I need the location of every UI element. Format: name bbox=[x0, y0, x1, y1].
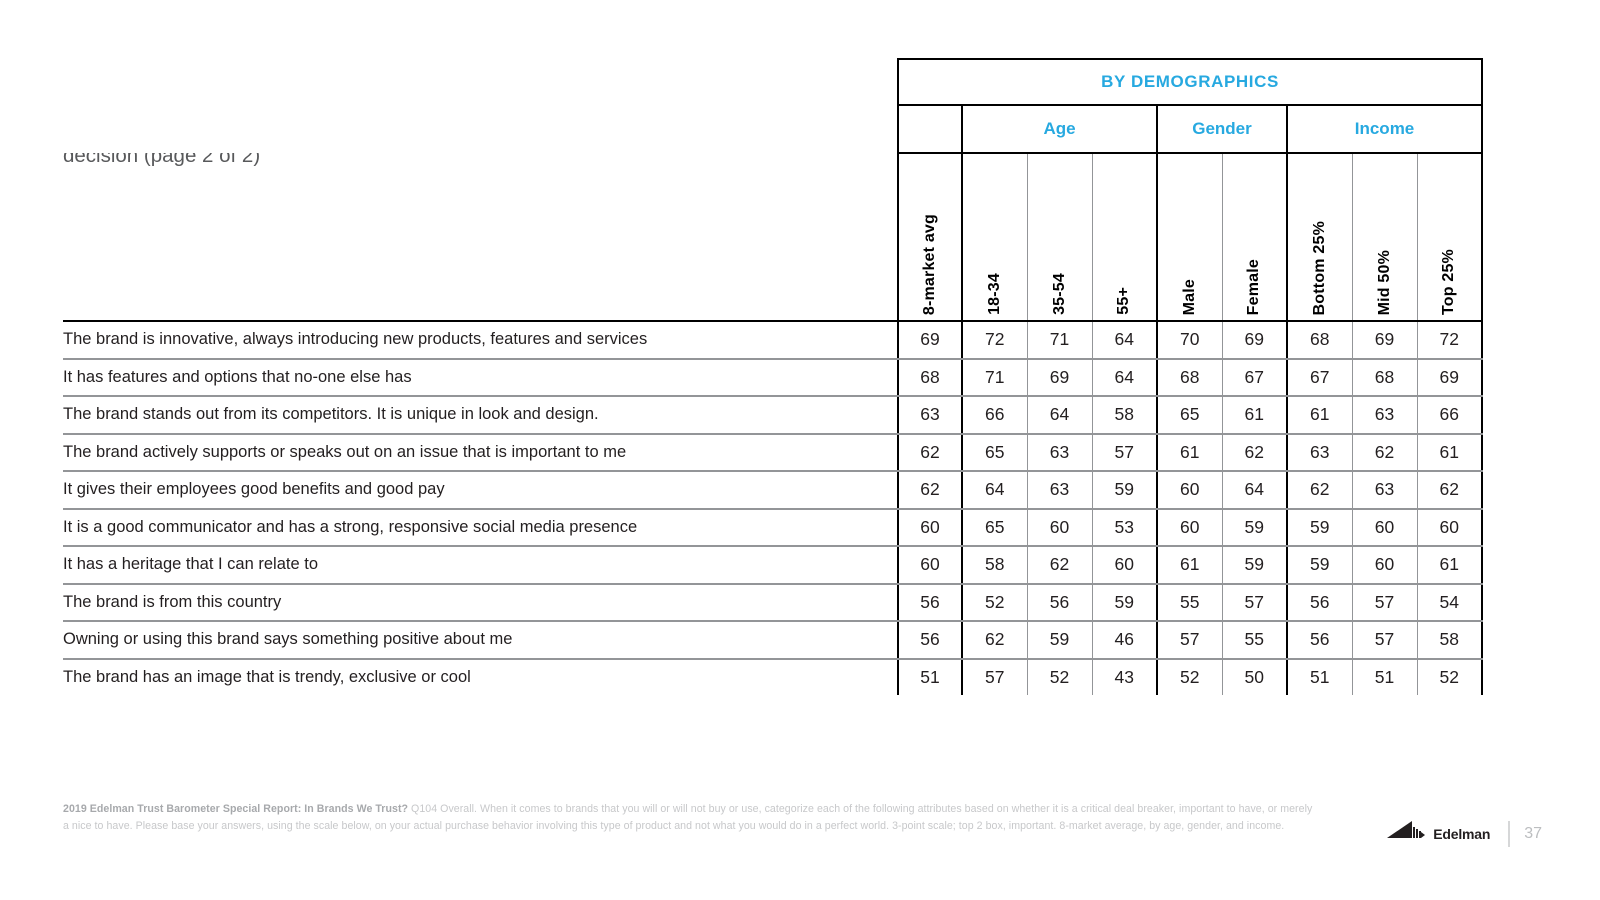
table-cell: 59 bbox=[1027, 621, 1092, 659]
table-cell: 52 bbox=[962, 584, 1027, 622]
table-cell: 62 bbox=[1222, 434, 1287, 472]
edelman-wordmark: Edelman bbox=[1433, 826, 1490, 842]
column-header-text: 55+ bbox=[1115, 281, 1133, 315]
table-cell: 53 bbox=[1092, 509, 1157, 547]
column-header-text: Female bbox=[1245, 253, 1263, 315]
column-header-8-market-avg: 8-market avg bbox=[898, 153, 962, 321]
table-cell: 63 bbox=[1027, 471, 1092, 509]
table-cell: 60 bbox=[1352, 509, 1417, 547]
footnote-source: 2019 Edelman Trust Barometer Special Rep… bbox=[63, 803, 408, 815]
column-label-spacer bbox=[63, 153, 898, 321]
table-cell: 64 bbox=[1222, 471, 1287, 509]
banner-spacer bbox=[63, 59, 898, 105]
table-cell: 61 bbox=[1287, 396, 1352, 434]
table-cell: 60 bbox=[1352, 546, 1417, 584]
column-header-text: 8-market avg bbox=[921, 208, 939, 315]
column-header-bottom-25: Bottom 25% bbox=[1287, 153, 1352, 321]
brand-footer: Edelman 37 bbox=[1385, 818, 1542, 849]
column-header-55-plus: 55+ bbox=[1092, 153, 1157, 321]
table-cell: 69 bbox=[1417, 359, 1482, 397]
table-cell: 65 bbox=[962, 434, 1027, 472]
table-row: The brand has an image that is trendy, e… bbox=[63, 659, 1482, 696]
table-cell: 52 bbox=[1157, 659, 1222, 696]
table-cell: 66 bbox=[962, 396, 1027, 434]
table-cell: 62 bbox=[1417, 471, 1482, 509]
table-cell: 64 bbox=[1092, 359, 1157, 397]
table-row: Owning or using this brand says somethin… bbox=[63, 621, 1482, 659]
table-cell: 72 bbox=[962, 321, 1027, 359]
table-cell: 59 bbox=[1222, 509, 1287, 547]
banner-row: BY DEMOGRAPHICS bbox=[63, 59, 1482, 105]
table-cell: 58 bbox=[1092, 396, 1157, 434]
table-cell: 62 bbox=[898, 471, 962, 509]
table-cell: 63 bbox=[1027, 434, 1092, 472]
table-cell: 51 bbox=[1287, 659, 1352, 696]
table-cell: 57 bbox=[1352, 584, 1417, 622]
table-row: The brand is innovative, always introduc… bbox=[63, 321, 1482, 359]
table-cell: 43 bbox=[1092, 659, 1157, 696]
table-cell: 62 bbox=[1287, 471, 1352, 509]
table-cell: 60 bbox=[1157, 471, 1222, 509]
table-cell: 63 bbox=[1287, 434, 1352, 472]
table-cell: 56 bbox=[1287, 621, 1352, 659]
row-label: Owning or using this brand says somethin… bbox=[63, 621, 898, 659]
table-cell: 56 bbox=[898, 621, 962, 659]
column-header-female: Female bbox=[1222, 153, 1287, 321]
column-header-mid-50: Mid 50% bbox=[1352, 153, 1417, 321]
table-cell: 68 bbox=[1287, 321, 1352, 359]
demographics-table-wrapper: BY DEMOGRAPHICS Age Gender Income 8-mark… bbox=[63, 58, 1481, 672]
column-header-text: 35-54 bbox=[1051, 267, 1069, 315]
table-cell: 59 bbox=[1092, 584, 1157, 622]
table-cell: 60 bbox=[1092, 546, 1157, 584]
table-cell: 57 bbox=[1222, 584, 1287, 622]
table-cell: 70 bbox=[1157, 321, 1222, 359]
table-cell: 58 bbox=[962, 546, 1027, 584]
table-cell: 68 bbox=[1157, 359, 1222, 397]
row-label: It has features and options that no-one … bbox=[63, 359, 898, 397]
group-header-gender: Gender bbox=[1157, 105, 1287, 153]
group-row: Age Gender Income bbox=[63, 105, 1482, 153]
table-row: The brand actively supports or speaks ou… bbox=[63, 434, 1482, 472]
table-cell: 68 bbox=[898, 359, 962, 397]
table-cell: 71 bbox=[962, 359, 1027, 397]
column-header-35-54: 35-54 bbox=[1027, 153, 1092, 321]
table-cell: 66 bbox=[1417, 396, 1482, 434]
row-label: The brand is innovative, always introduc… bbox=[63, 321, 898, 359]
table-cell: 69 bbox=[1352, 321, 1417, 359]
table-cell: 63 bbox=[1352, 471, 1417, 509]
row-label: It is a good communicator and has a stro… bbox=[63, 509, 898, 547]
row-label: The brand has an image that is trendy, e… bbox=[63, 659, 898, 696]
table-cell: 64 bbox=[962, 471, 1027, 509]
group-header-age: Age bbox=[962, 105, 1157, 153]
table-cell: 62 bbox=[898, 434, 962, 472]
table-cell: 60 bbox=[1027, 509, 1092, 547]
column-header-male: Male bbox=[1157, 153, 1222, 321]
table-cell: 69 bbox=[898, 321, 962, 359]
table-cell: 72 bbox=[1417, 321, 1482, 359]
column-label-row: 8-market avg 18-34 35-54 55+ Male Female… bbox=[63, 153, 1482, 321]
page-number: 37 bbox=[1524, 825, 1542, 843]
footnote: 2019 Edelman Trust Barometer Special Rep… bbox=[63, 801, 1318, 834]
column-header-text: Male bbox=[1181, 273, 1199, 315]
table-cell: 67 bbox=[1222, 359, 1287, 397]
table-cell: 56 bbox=[1287, 584, 1352, 622]
table-row: It gives their employees good benefits a… bbox=[63, 471, 1482, 509]
buying-considerations-table: BY DEMOGRAPHICS Age Gender Income 8-mark… bbox=[63, 58, 1483, 695]
table-cell: 59 bbox=[1222, 546, 1287, 584]
group-header-blank bbox=[898, 105, 962, 153]
table-cell: 71 bbox=[1027, 321, 1092, 359]
table-row: The brand is from this country5652565955… bbox=[63, 584, 1482, 622]
row-label: It gives their employees good benefits a… bbox=[63, 471, 898, 509]
column-header-text: Bottom 25% bbox=[1311, 215, 1329, 315]
table-cell: 63 bbox=[1352, 396, 1417, 434]
table-cell: 64 bbox=[1027, 396, 1092, 434]
row-label: The brand is from this country bbox=[63, 584, 898, 622]
table-cell: 46 bbox=[1092, 621, 1157, 659]
table-cell: 69 bbox=[1222, 321, 1287, 359]
group-spacer bbox=[63, 105, 898, 153]
table-cell: 50 bbox=[1222, 659, 1287, 696]
table-cell: 67 bbox=[1287, 359, 1352, 397]
table-cell: 56 bbox=[1027, 584, 1092, 622]
column-header-text: 18-34 bbox=[986, 267, 1004, 315]
table-cell: 52 bbox=[1027, 659, 1092, 696]
table-row: It has features and options that no-one … bbox=[63, 359, 1482, 397]
table-cell: 55 bbox=[1157, 584, 1222, 622]
table-cell: 60 bbox=[1157, 509, 1222, 547]
table-cell: 59 bbox=[1092, 471, 1157, 509]
table-cell: 54 bbox=[1417, 584, 1482, 622]
table-cell: 62 bbox=[1352, 434, 1417, 472]
group-header-income: Income bbox=[1287, 105, 1482, 153]
table-cell: 61 bbox=[1417, 434, 1482, 472]
row-label: It has a heritage that I can relate to bbox=[63, 546, 898, 584]
table-row: It is a good communicator and has a stro… bbox=[63, 509, 1482, 547]
table-cell: 57 bbox=[1092, 434, 1157, 472]
table-cell: 61 bbox=[1417, 546, 1482, 584]
table-body: The brand is innovative, always introduc… bbox=[63, 321, 1482, 695]
table-cell: 57 bbox=[962, 659, 1027, 696]
table-cell: 68 bbox=[1352, 359, 1417, 397]
table-cell: 60 bbox=[898, 509, 962, 547]
edelman-logo-icon bbox=[1385, 818, 1425, 849]
brand-divider bbox=[1508, 821, 1510, 847]
table-cell: 59 bbox=[1287, 509, 1352, 547]
table-cell: 58 bbox=[1417, 621, 1482, 659]
row-label: The brand stands out from its competitor… bbox=[63, 396, 898, 434]
table-row: It has a heritage that I can relate to60… bbox=[63, 546, 1482, 584]
table-cell: 61 bbox=[1157, 546, 1222, 584]
table-cell: 60 bbox=[898, 546, 962, 584]
table-cell: 57 bbox=[1157, 621, 1222, 659]
column-header-text: Mid 50% bbox=[1376, 244, 1394, 315]
table-cell: 61 bbox=[1222, 396, 1287, 434]
table-cell: 51 bbox=[1352, 659, 1417, 696]
table-cell: 65 bbox=[1157, 396, 1222, 434]
banner-by-demographics: BY DEMOGRAPHICS bbox=[898, 59, 1482, 105]
column-header-top-25: Top 25% bbox=[1417, 153, 1482, 321]
table-cell: 62 bbox=[1027, 546, 1092, 584]
table-cell: 62 bbox=[962, 621, 1027, 659]
table-cell: 51 bbox=[898, 659, 962, 696]
table-cell: 60 bbox=[1417, 509, 1482, 547]
table-cell: 52 bbox=[1417, 659, 1482, 696]
column-header-text: Top 25% bbox=[1440, 243, 1458, 315]
table-cell: 61 bbox=[1157, 434, 1222, 472]
table-cell: 56 bbox=[898, 584, 962, 622]
table-cell: 57 bbox=[1352, 621, 1417, 659]
table-cell: 55 bbox=[1222, 621, 1287, 659]
row-label: The brand actively supports or speaks ou… bbox=[63, 434, 898, 472]
table-row: The brand stands out from its competitor… bbox=[63, 396, 1482, 434]
table-cell: 63 bbox=[898, 396, 962, 434]
table-cell: 64 bbox=[1092, 321, 1157, 359]
table-cell: 59 bbox=[1287, 546, 1352, 584]
column-header-18-34: 18-34 bbox=[962, 153, 1027, 321]
table-head: BY DEMOGRAPHICS Age Gender Income 8-mark… bbox=[63, 59, 1482, 321]
table-cell: 65 bbox=[962, 509, 1027, 547]
table-cell: 69 bbox=[1027, 359, 1092, 397]
